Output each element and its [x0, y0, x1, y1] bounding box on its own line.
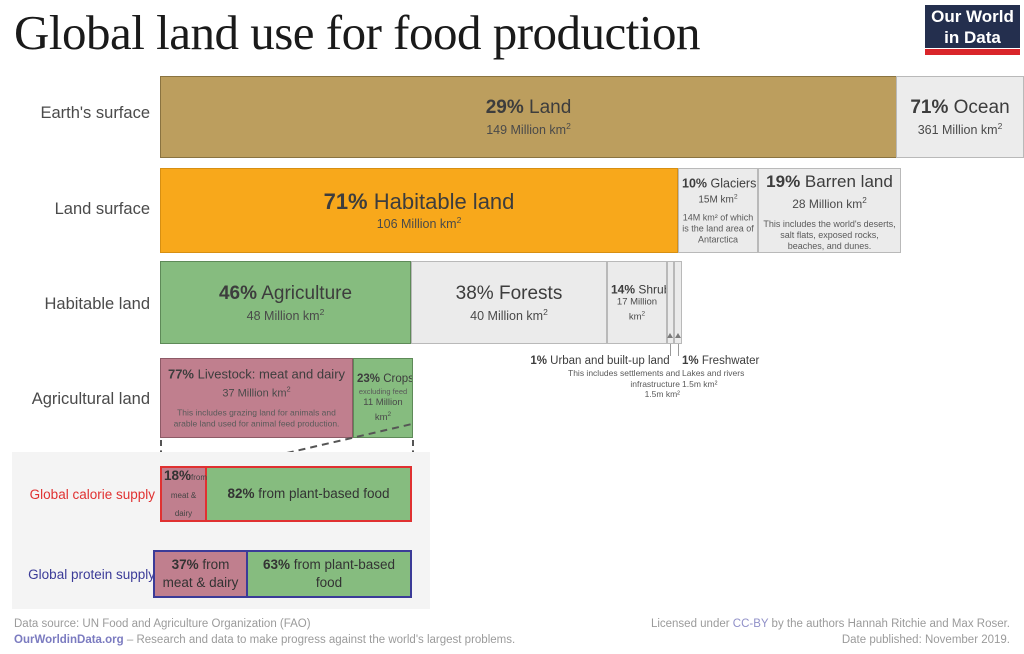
segment-glaciers-note: 14M km² of which is the land area of Ant… — [682, 212, 754, 245]
segment-freshwater-sliver[interactable] — [674, 261, 682, 344]
footer-license-post: by the authors Hannah Ritchie and Max Ro… — [768, 618, 1010, 630]
segment-glaciers-value: 15M km2 — [682, 191, 754, 206]
segment-forests-pct: 38% — [456, 282, 494, 303]
segment-glaciers[interactable]: 10% Glaciers 15M km2 14M km² of which is… — [678, 168, 758, 253]
segment-glaciers-text: 10% Glaciers 15M km2 14M km² of which is… — [679, 176, 757, 245]
segment-land-text: 29% Land 149 Million km2 — [161, 96, 896, 138]
footer-license-line: Licensed under CC-BY by the authors Hann… — [651, 616, 1010, 632]
protein-supply-bar: 37% from meat & dairy 63% from plant-bas… — [153, 550, 412, 598]
segment-land[interactable]: 29% Land 149 Million km2 — [160, 76, 897, 158]
footer-license-link[interactable]: CC-BY — [733, 618, 769, 630]
annotation-freshwater-note-2: 1.5m km² — [682, 379, 802, 390]
footer-site-link[interactable]: OurWorldinData.org — [14, 634, 124, 646]
segment-ocean-name: Ocean — [948, 97, 1009, 118]
segment-habitable-land-name: Habitable land — [368, 188, 515, 213]
segment-shrub-name: Shrub — [635, 282, 667, 296]
segment-forests-name: Forests — [494, 282, 563, 303]
segment-barren-land-name: Barren land — [800, 172, 893, 191]
segment-livestock-pct: 77% — [168, 367, 194, 382]
calorie-segment-meat-dairy[interactable]: 18%from meat & dairy — [162, 468, 207, 520]
calorie-meat-pct: 18% — [164, 468, 191, 483]
segment-shrub-value: 17 Million km2 — [611, 296, 663, 323]
segment-shrub-pct: 14% — [611, 282, 635, 296]
footer-right: Licensed under CC-BY by the authors Hann… — [651, 616, 1010, 648]
footer-tagline: – Research and data to make progress aga… — [124, 634, 515, 646]
logo-box: Our World in Data — [925, 5, 1020, 48]
segment-glaciers-name: Glaciers — [707, 176, 756, 190]
segment-agriculture-value: 48 Million km2 — [164, 304, 407, 323]
segment-crops-name: Crops — [380, 373, 413, 385]
segment-ocean-pct: 71% — [910, 97, 948, 118]
annotation-urban-built-up-land: 1% Urban and built-up land This includes… — [520, 354, 680, 400]
row-label-earths-surface: Earth's surface — [0, 104, 150, 123]
segment-habitable-land[interactable]: 71% Habitable land 106 Million km2 — [160, 168, 678, 253]
supply-label-calorie: Global calorie supply — [10, 487, 155, 502]
annotation-urban-heading: 1% Urban and built-up land — [520, 354, 680, 368]
segment-land-heading: 29% Land — [164, 96, 893, 119]
calorie-meat-text: 18%from meat & dairy — [162, 467, 205, 521]
protein-plant-label: 63% from plant-based food — [263, 557, 395, 590]
segment-agriculture-pct: 46% — [219, 282, 257, 303]
segment-livestock-heading: 77% Livestock: meat and dairy — [167, 367, 346, 383]
segment-forests-heading: 38% Forests — [415, 281, 603, 304]
segment-barren-land-value: 28 Million km2 — [762, 193, 897, 212]
logo-accent-bar — [925, 49, 1020, 55]
segment-urban-sliver[interactable] — [667, 261, 674, 344]
segment-livestock-name: Livestock: meat and dairy — [194, 367, 345, 382]
calorie-plant-text: 82% from plant-based food — [207, 485, 410, 503]
annotation-urban-note-1: This includes settlements and infrastruc… — [520, 368, 680, 389]
calorie-plant-label: 82% from plant-based food — [227, 486, 389, 501]
footer-published: Date published: November 2019. — [651, 632, 1010, 648]
protein-segment-plant-based[interactable]: 63% from plant-based food — [248, 552, 410, 596]
protein-meat-text: 37% from meat & dairy — [155, 556, 246, 592]
segment-barren-land-pct: 19% — [766, 172, 800, 191]
row-label-agricultural-land: Agricultural land — [0, 390, 150, 409]
infographic-canvas: Global land use for food production Our … — [0, 0, 1024, 654]
freshwater-marker-triangle — [675, 333, 681, 338]
annotation-freshwater: 1% Freshwater Lakes and rivers 1.5m km² — [682, 354, 802, 389]
segment-forests-text: 38% Forests 40 Million km2 — [412, 281, 606, 323]
segment-agriculture-name: Agriculture — [257, 282, 352, 303]
segment-crops-pct: 23% — [357, 373, 380, 385]
footer-left: Data source: UN Food and Agriculture Org… — [14, 616, 515, 648]
protein-segment-meat-dairy[interactable]: 37% from meat & dairy — [155, 552, 248, 596]
segment-habitable-land-value: 106 Million km2 — [164, 212, 674, 231]
segment-land-pct: 29% — [486, 97, 524, 118]
row-label-land-surface: Land surface — [0, 200, 150, 219]
segment-ocean-text: 71% Ocean 361 Million km2 — [897, 96, 1023, 138]
calorie-segment-plant-based[interactable]: 82% from plant-based food — [207, 468, 410, 520]
annotation-urban-note-2: 1.5m km² — [520, 389, 680, 400]
segment-land-name: Land — [524, 97, 572, 118]
segment-barren-land-note: This includes the world's deserts, salt … — [762, 219, 897, 252]
segment-forests-value: 40 Million km2 — [415, 304, 603, 323]
protein-plant-text: 63% from plant-based food — [248, 556, 410, 592]
supply-label-protein: Global protein supply — [10, 567, 155, 582]
segment-crops-small: excluding feed — [357, 386, 409, 397]
segment-habitable-land-heading: 71% Habitable land — [164, 189, 674, 212]
segment-shrub[interactable]: 14% Shrub 17 Million km2 — [607, 261, 667, 344]
logo-line-2: in Data — [925, 27, 1020, 48]
segment-crops-text: 23% Crops excluding feed 11 Million km2 — [354, 372, 412, 424]
our-world-in-data-logo[interactable]: Our World in Data — [925, 5, 1020, 55]
segment-ocean-value: 361 Million km2 — [900, 119, 1020, 138]
segment-ocean-heading: 71% Ocean — [900, 96, 1020, 119]
segment-barren-land[interactable]: 19% Barren land 28 Million km2 This incl… — [758, 168, 901, 253]
segment-land-value: 149 Million km2 — [164, 119, 893, 138]
footer-site-line: OurWorldinData.org – Research and data t… — [14, 632, 515, 648]
segment-habitable-land-pct: 71% — [324, 188, 368, 213]
segment-crops-heading: 23% Crops — [357, 372, 409, 386]
footer-license-pre: Licensed under — [651, 618, 733, 630]
row-label-habitable-land: Habitable land — [0, 295, 150, 314]
protein-meat-label: 37% from meat & dairy — [163, 557, 239, 590]
segment-agriculture[interactable]: 46% Agriculture 48 Million km2 — [160, 261, 411, 344]
annotation-freshwater-note-1: Lakes and rivers — [682, 368, 802, 379]
page-title: Global land use for food production — [14, 4, 700, 61]
calorie-supply-bar: 18%from meat & dairy 82% from plant-base… — [160, 466, 412, 522]
segment-glaciers-pct: 10% — [682, 176, 707, 190]
segment-forests[interactable]: 38% Forests 40 Million km2 — [411, 261, 607, 344]
footer-source: Data source: UN Food and Agriculture Org… — [14, 616, 515, 632]
segment-glaciers-heading: 10% Glaciers — [682, 176, 754, 191]
segment-livestock-value: 37 Million km2 — [167, 383, 346, 401]
annotation-freshwater-heading: 1% Freshwater — [682, 354, 802, 368]
segment-agriculture-text: 46% Agriculture 48 Million km2 — [161, 281, 410, 323]
segment-agriculture-heading: 46% Agriculture — [164, 281, 407, 304]
segment-barren-land-text: 19% Barren land 28 Million km2 This incl… — [759, 170, 900, 252]
logo-line-1: Our World — [925, 6, 1020, 27]
segment-shrub-heading: 14% Shrub — [611, 282, 663, 296]
urban-marker-triangle — [667, 333, 673, 338]
segment-habitable-land-text: 71% Habitable land 106 Million km2 — [161, 189, 677, 231]
segment-ocean[interactable]: 71% Ocean 361 Million km2 — [896, 76, 1024, 158]
segment-barren-land-heading: 19% Barren land — [762, 170, 897, 193]
segment-shrub-text: 14% Shrub 17 Million km2 — [608, 282, 666, 323]
